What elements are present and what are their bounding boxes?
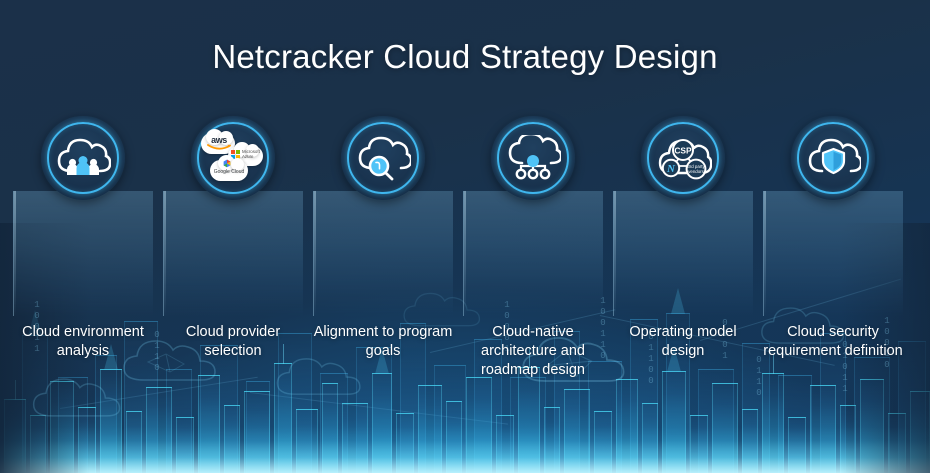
- step-caption: Operating model design: [609, 323, 757, 361]
- google-cloud-logo-icon: [222, 159, 232, 168]
- step-caption: Cloud environment analysis: [9, 323, 157, 361]
- svg-text:vendors: vendors: [688, 169, 704, 174]
- cloud-providers-icon: aws Microsoft Azure: [202, 132, 264, 184]
- step-panel: [463, 191, 603, 316]
- svg-text:CSP: CSP: [674, 146, 692, 156]
- step-panel: [313, 191, 453, 316]
- cloud-people-icon: [55, 135, 111, 181]
- step-icon-badge-6[interactable]: [791, 116, 875, 200]
- step-caption: Cloud provider selection: [159, 323, 307, 361]
- cloud-search-icon: [355, 135, 411, 181]
- cloud-shield-icon: [805, 135, 861, 181]
- steps-row: Cloud environment analysis aws: [13, 0, 918, 473]
- step-icon-badge-5[interactable]: CSP N 3rd party vendors: [641, 116, 725, 200]
- step-panel: [13, 191, 153, 316]
- aws-smile-icon: [207, 144, 231, 151]
- step-caption: Alignment to program goals: [309, 323, 457, 361]
- google-cloud-logo-text: Google Cloud: [212, 169, 246, 175]
- step-icon-badge-2[interactable]: aws Microsoft Azure: [191, 116, 275, 200]
- step-panel: [613, 191, 753, 316]
- step-icon-badge-1[interactable]: [41, 116, 125, 200]
- step-panel: [763, 191, 903, 316]
- svg-text:N: N: [666, 163, 676, 175]
- cloud-operating-model-icon: CSP N 3rd party vendors: [654, 135, 712, 181]
- slide-canvas: 10001 100110 01100 0101 11010 01011 1001…: [0, 0, 930, 473]
- azure-logo-text: Microsoft Azure: [242, 149, 262, 160]
- step-panel: [163, 191, 303, 316]
- step-caption: Cloud-native architecture and roadmap de…: [459, 323, 607, 380]
- step-icon-badge-4[interactable]: [491, 116, 575, 200]
- step-caption: Cloud security requirement definition: [759, 323, 907, 361]
- cloud-network-icon: [505, 135, 561, 181]
- step-icon-badge-3[interactable]: [341, 116, 425, 200]
